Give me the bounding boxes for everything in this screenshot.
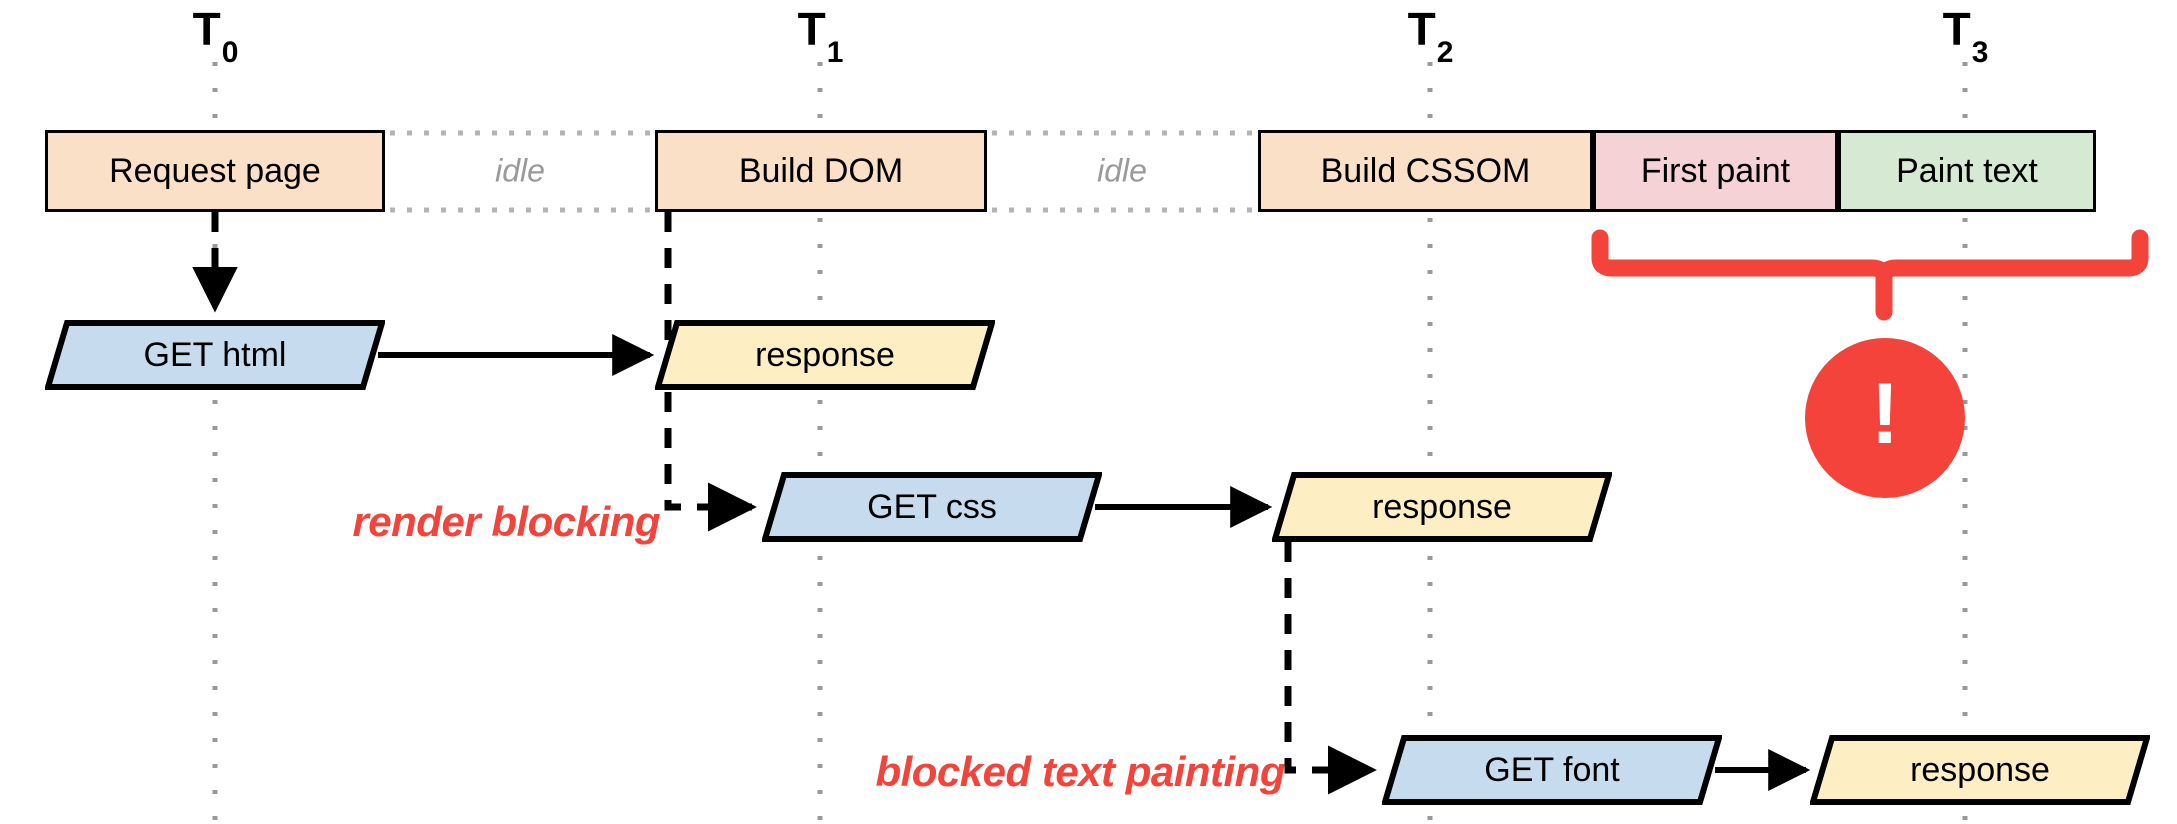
node-get-html[interactable]: GET html xyxy=(45,320,385,390)
node-response-html[interactable]: response xyxy=(655,320,995,390)
phase-label-request-page: Request page xyxy=(109,152,321,191)
node-shape-response-css xyxy=(1272,472,1612,542)
tick-base-t0: T xyxy=(193,3,221,55)
tick-base-t3: T xyxy=(1943,3,1971,55)
phase-label-paint-text: Paint text xyxy=(1896,152,2038,191)
tick-label-t3: T3 xyxy=(1943,6,1988,61)
tick-sub-t1: 1 xyxy=(827,36,844,69)
annotation-blocked-text-painting: blocked text painting xyxy=(875,748,1285,796)
node-shape-response-html xyxy=(655,320,995,390)
tick-label-t2: T2 xyxy=(1408,6,1453,61)
warning-icon: ! xyxy=(1805,338,1965,498)
node-shape-get-css xyxy=(762,472,1102,542)
tick-base-t1: T xyxy=(798,3,826,55)
phase-first-paint[interactable]: First paint xyxy=(1593,130,1838,212)
phase-label-build-dom: Build DOM xyxy=(739,152,903,191)
idle-label-1: idle xyxy=(495,153,545,190)
phase-build-cssom[interactable]: Build CSSOM xyxy=(1258,130,1593,212)
tick-sub-t3: 3 xyxy=(1972,36,1989,69)
phase-label-build-cssom: Build CSSOM xyxy=(1321,152,1531,191)
tick-label-t1: T1 xyxy=(798,6,843,61)
delay-brace xyxy=(1600,238,2140,312)
tick-label-t0: T0 xyxy=(193,6,238,61)
phase-request-page[interactable]: Request page xyxy=(45,130,385,212)
node-response-css[interactable]: response xyxy=(1272,472,1612,542)
diagram-canvas: T0 T1 T2 T3 Request page Build DOM Build… xyxy=(0,0,2177,824)
node-response-font[interactable]: response xyxy=(1810,735,2150,805)
node-get-css[interactable]: GET css xyxy=(762,472,1102,542)
annotation-render-blocking: render blocking xyxy=(352,498,660,546)
node-shape-get-font xyxy=(1382,735,1722,805)
tick-base-t2: T xyxy=(1408,3,1436,55)
connector-response-css-to-get-font xyxy=(1288,542,1372,770)
node-shape-response-font xyxy=(1810,735,2150,805)
node-shape-get-html xyxy=(45,320,385,390)
tick-sub-t2: 2 xyxy=(1437,36,1454,69)
phase-paint-text[interactable]: Paint text xyxy=(1838,130,2096,212)
idle-label-2: idle xyxy=(1097,153,1147,190)
node-get-font[interactable]: GET font xyxy=(1382,735,1722,805)
phase-label-first-paint: First paint xyxy=(1641,152,1790,191)
phase-build-dom[interactable]: Build DOM xyxy=(655,130,987,212)
warning-glyph: ! xyxy=(1871,371,1900,457)
tick-sub-t0: 0 xyxy=(222,36,239,69)
